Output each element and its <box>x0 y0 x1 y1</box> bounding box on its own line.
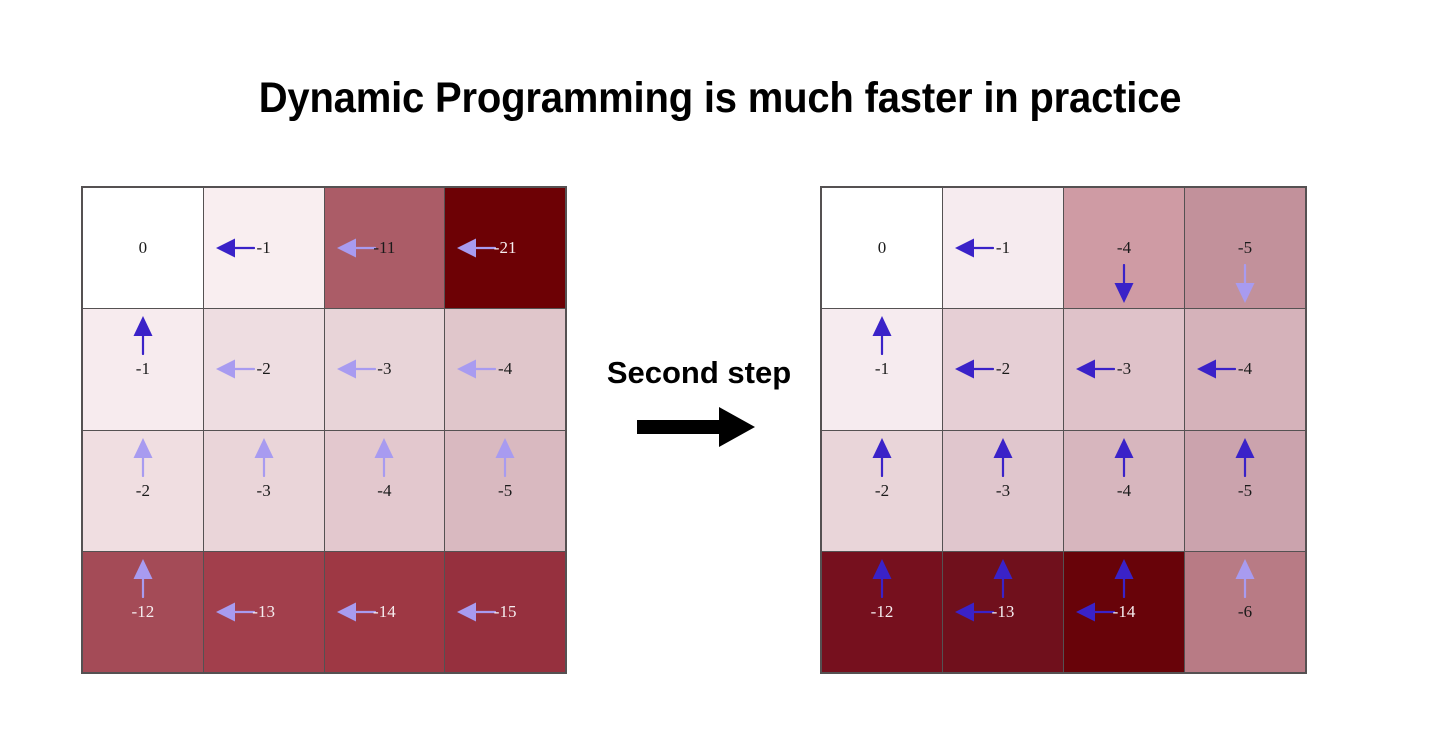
arrow-up-icon <box>130 558 156 598</box>
grid-cell[interactable]: -1 <box>822 309 942 429</box>
grid-cell[interactable]: -1 <box>204 188 324 308</box>
grid-cell[interactable]: -14 <box>325 552 445 672</box>
grid-cell[interactable]: -3 <box>325 309 445 429</box>
before-grid: 0-1-11-21-1-2-3-4-2-3-4-5-12-13-14-15 <box>81 186 567 674</box>
cell-value: -2 <box>822 481 942 501</box>
arrow-left-icon <box>336 599 376 625</box>
arrow-up-icon <box>869 558 895 598</box>
arrow-left-icon <box>215 356 255 382</box>
arrow-left-icon <box>954 599 994 625</box>
cell-value: -6 <box>1185 602 1305 622</box>
arrow-left-icon <box>336 235 376 261</box>
arrow-left-icon <box>456 356 496 382</box>
arrow-up-icon <box>1111 558 1137 598</box>
grid-cell[interactable]: -4 <box>445 309 565 429</box>
grid-cell[interactable]: -1 <box>943 188 1063 308</box>
arrow-up-icon <box>371 437 397 477</box>
cell-value: -15 <box>445 602 565 622</box>
arrow-left-icon <box>215 235 255 261</box>
grid-cell[interactable]: -2 <box>204 309 324 429</box>
grid-cell[interactable]: -4 <box>1185 309 1305 429</box>
arrow-up-icon <box>130 437 156 477</box>
cell-value: -4 <box>325 481 445 501</box>
cell-value: -2 <box>83 481 203 501</box>
page-title: Dynamic Programming is much faster in pr… <box>50 70 1389 126</box>
cell-value: -1 <box>822 359 942 379</box>
grid-cell[interactable]: -3 <box>204 431 324 551</box>
arrow-left-icon <box>336 356 376 382</box>
grid-cell[interactable]: -21 <box>445 188 565 308</box>
arrow-left-icon <box>954 235 994 261</box>
arrow-down-icon <box>1111 264 1137 304</box>
grid-cell[interactable]: -5 <box>445 431 565 551</box>
cell-value: -3 <box>204 481 324 501</box>
cell-value: -14 <box>1064 602 1184 622</box>
grid-cell[interactable]: -6 <box>1185 552 1305 672</box>
cell-value: -4 <box>1185 359 1305 379</box>
cell-value: -13 <box>204 602 324 622</box>
arrow-left-icon <box>456 599 496 625</box>
cell-value: -2 <box>943 359 1063 379</box>
grid-cell[interactable]: -12 <box>83 552 203 672</box>
grid-cell[interactable]: -3 <box>1064 309 1184 429</box>
grid-cell[interactable]: -2 <box>83 431 203 551</box>
cell-value: -2 <box>204 359 324 379</box>
cell-value: -5 <box>1185 238 1305 258</box>
grid-cell[interactable]: -13 <box>204 552 324 672</box>
step-caption: Second step <box>583 352 815 394</box>
grid-cell[interactable]: -15 <box>445 552 565 672</box>
cell-value: -11 <box>325 238 445 258</box>
arrow-up-icon <box>869 437 895 477</box>
arrow-left-icon <box>215 599 255 625</box>
arrow-up-icon <box>1232 558 1258 598</box>
cell-value: -3 <box>325 359 445 379</box>
cell-value: -3 <box>1064 359 1184 379</box>
cell-value: -12 <box>822 602 942 622</box>
arrow-left-icon <box>1075 599 1115 625</box>
arrow-left-icon <box>1075 356 1115 382</box>
arrow-up-icon <box>1232 437 1258 477</box>
arrow-up-icon <box>1111 437 1137 477</box>
grid-cell[interactable]: -14 <box>1064 552 1184 672</box>
cell-value: -1 <box>83 359 203 379</box>
grid-cell[interactable]: -4 <box>1064 188 1184 308</box>
arrow-up-icon <box>990 558 1016 598</box>
cell-value: 0 <box>822 238 942 258</box>
grid-cell[interactable]: -2 <box>822 431 942 551</box>
grid-cell[interactable]: -12 <box>822 552 942 672</box>
grid-cell[interactable]: -1 <box>83 309 203 429</box>
cell-value: -4 <box>445 359 565 379</box>
grid-cell[interactable]: -5 <box>1185 431 1305 551</box>
cell-value: -13 <box>943 602 1063 622</box>
cell-value: -4 <box>1064 238 1184 258</box>
arrow-up-icon <box>492 437 518 477</box>
arrow-left-icon <box>456 235 496 261</box>
arrow-up-icon <box>130 315 156 355</box>
arrow-up-icon <box>869 315 895 355</box>
cell-value: -1 <box>943 238 1063 258</box>
grid-cell[interactable]: 0 <box>822 188 942 308</box>
arrow-left-icon <box>954 356 994 382</box>
arrow-left-icon <box>1196 356 1236 382</box>
cell-value: -5 <box>1185 481 1305 501</box>
after-grid: 0-1-4-5-1-2-3-4-2-3-4-5-12-13-14-6 <box>820 186 1307 674</box>
arrow-down-icon <box>1232 264 1258 304</box>
grid-cell[interactable]: -2 <box>943 309 1063 429</box>
grid-cell[interactable]: -3 <box>943 431 1063 551</box>
cell-value: -21 <box>445 238 565 258</box>
grid-cell[interactable]: -4 <box>1064 431 1184 551</box>
right-arrow-icon <box>637 404 755 450</box>
grid-cell[interactable]: -13 <box>943 552 1063 672</box>
cell-value: -12 <box>83 602 203 622</box>
cell-value: -4 <box>1064 481 1184 501</box>
grid-cell[interactable]: 0 <box>83 188 203 308</box>
arrow-up-icon <box>251 437 277 477</box>
cell-value: -3 <box>943 481 1063 501</box>
grid-cell[interactable]: -5 <box>1185 188 1305 308</box>
grid-cell[interactable]: -11 <box>325 188 445 308</box>
arrow-up-icon <box>990 437 1016 477</box>
grid-cell[interactable]: -4 <box>325 431 445 551</box>
cell-value: -5 <box>445 481 565 501</box>
cell-value: -1 <box>204 238 324 258</box>
cell-value: -14 <box>325 602 445 622</box>
cell-value: 0 <box>83 238 203 258</box>
